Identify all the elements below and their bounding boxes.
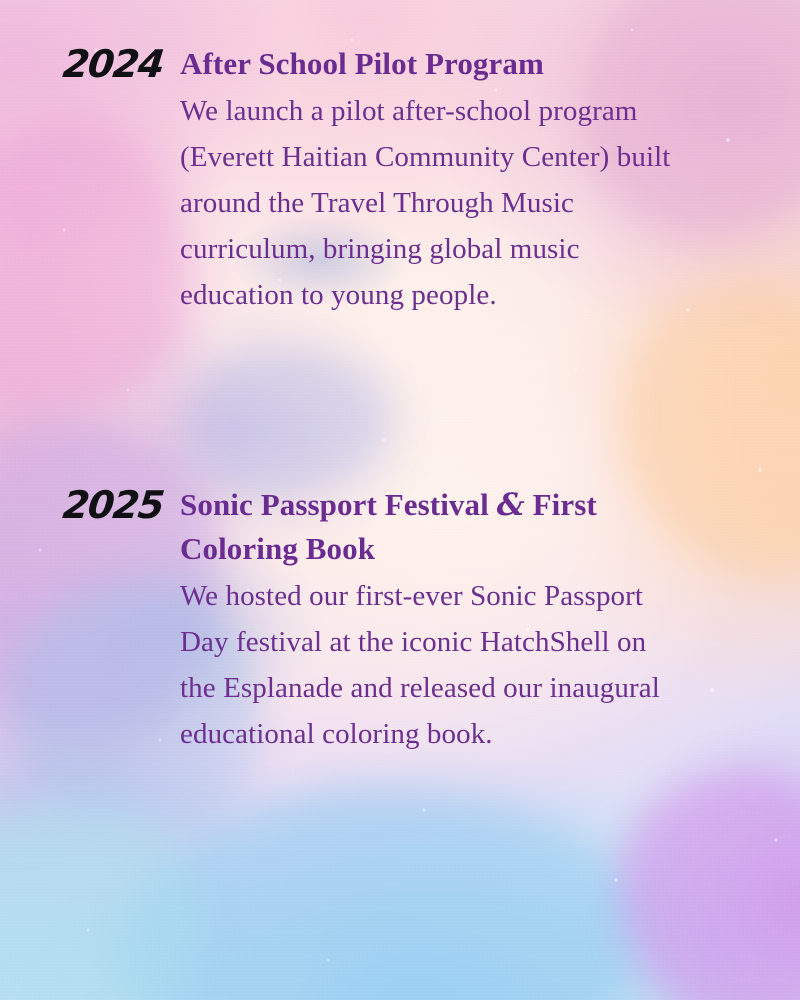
timeline-entry-2024: 2024 After School Pilot Program We launc… — [55, 42, 755, 318]
timeline-content: 2024 After School Pilot Program We launc… — [0, 0, 800, 1000]
timeline-entry-2025: 2025 Sonic Passport Festival & First Col… — [55, 483, 755, 757]
timeline-year-label-2025: 2025 — [53, 483, 183, 527]
timeline-entry-title-2025: Sonic Passport Festival & First Coloring… — [180, 483, 680, 571]
timeline-page: 2024 After School Pilot Program We launc… — [0, 0, 800, 1000]
timeline-entry-description-2025: We hosted our first-ever Sonic Passport … — [180, 573, 680, 757]
timeline-entry-body-2024: After School Pilot Program We launch a p… — [180, 42, 680, 318]
ampersand-glyph: & — [497, 487, 525, 523]
timeline-entry-title-2024: After School Pilot Program — [180, 42, 680, 86]
timeline-entry-description-2024: We launch a pilot after-school program (… — [180, 88, 680, 318]
timeline-year-label-2024: 2024 — [53, 42, 183, 86]
timeline-entry-title-2025-prefix: Sonic Passport Festival — [180, 487, 497, 522]
timeline-entry-body-2025: Sonic Passport Festival & First Coloring… — [180, 483, 680, 757]
